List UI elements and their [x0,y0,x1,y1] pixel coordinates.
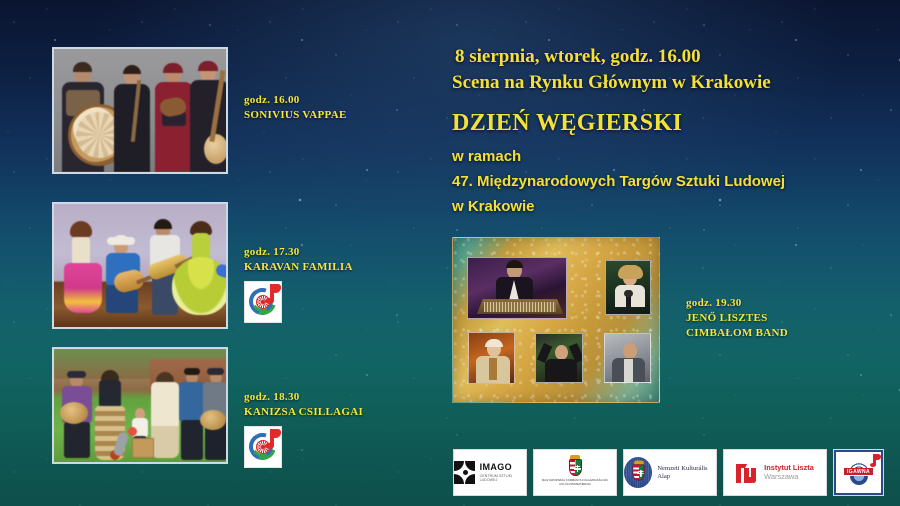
program-caption-3: godz. 18.30 KANIZSA CSILLAGAI [244,390,363,420]
program-name-4-line2: CIMBAŁOM BAND [686,326,788,341]
page-title: DZIEŃ WĘGIERSKI [452,108,682,138]
sponsor-logo-liszt-institute[interactable]: Instytut Liszta Warszawa [723,449,827,496]
sponsor-logo-igawna[interactable]: IGAWNA [833,449,884,496]
program-name-1: SONIVIUS VAPPAE [244,108,347,123]
ensemble-logo-1 [244,281,282,323]
imago-pinwheel-icon [454,461,475,484]
headline-sub-3: w Krakowie [452,196,535,217]
imago-name: IMAGO [480,463,526,472]
sponsor-logo-nka[interactable]: Nemzeti Kulturális Alap [623,449,717,496]
hungarian-government-tagline: MAGYARORSZÁG KORMÁNYA KÜLGAZDASÁGI ÉS KÜ… [540,479,610,486]
ensemble-logo-2 [244,426,282,468]
collage-photo-1 [467,257,567,319]
headline-sub-2: 47. Międzynarodowych Targów Sztuki Ludow… [452,171,785,192]
program-caption-2: godz. 17.30 KARAVAN FAMILIA [244,245,353,275]
artist-photo-3 [52,347,228,464]
poster-canvas: godz. 16.00 SONIVIUS VAPPAE [0,0,900,506]
program-time-1: godz. 16.00 [244,93,347,108]
music-note-icon [270,429,274,446]
headline-sub-1: w ramach [452,146,521,167]
program-name-2: KARAVAN FAMILIA [244,260,353,275]
artist-photo-1 [52,47,228,174]
artist-photo-4-collage [452,237,660,403]
imago-tagline: CENTRUM SZTUKI LUDOWEJ [480,474,526,482]
collage-photo-5 [604,333,651,383]
collage-photo-4 [535,333,583,383]
artist-photo-2 [52,202,228,329]
sponsor-logo-imago[interactable]: IMAGO CENTRUM SZTUKI LUDOWEJ [453,449,527,496]
headline-venue: Scena na Rynku Głównym w Krakowie [452,70,771,96]
sponsor-logo-hungarian-government[interactable]: MAGYARORSZÁG KORMÁNYA KÜLGAZDASÁGI ÉS KÜ… [533,449,617,496]
headline-date: 8 sierpnia, wtorek, godz. 16.00 [455,44,701,70]
liszt-monogram-icon [736,462,758,483]
hungary-coat-of-arms-icon [569,459,582,476]
program-name-4: JENŐ LISZTES [686,311,788,326]
program-name-3: KANIZSA CSILLAGAI [244,405,363,420]
nka-circle-icon [624,457,652,488]
nka-name: Nemzeti Kulturális Alap [657,465,716,480]
collage-photo-2 [605,260,651,315]
program-caption-1: godz. 16.00 SONIVIUS VAPPAE [244,93,347,123]
liszt-city: Warszawa [764,473,814,482]
music-note-icon [270,284,274,301]
igawna-name: IGAWNA [844,468,873,475]
igawna-badge-icon: IGAWNA [834,450,883,495]
program-caption-4: godz. 19.30 JENŐ LISZTES CIMBAŁOM BAND [686,296,788,341]
program-time-3: godz. 18.30 [244,390,363,405]
program-time-2: godz. 17.30 [244,245,353,260]
collage-photo-3 [468,332,515,384]
program-time-4: godz. 19.30 [686,296,788,311]
